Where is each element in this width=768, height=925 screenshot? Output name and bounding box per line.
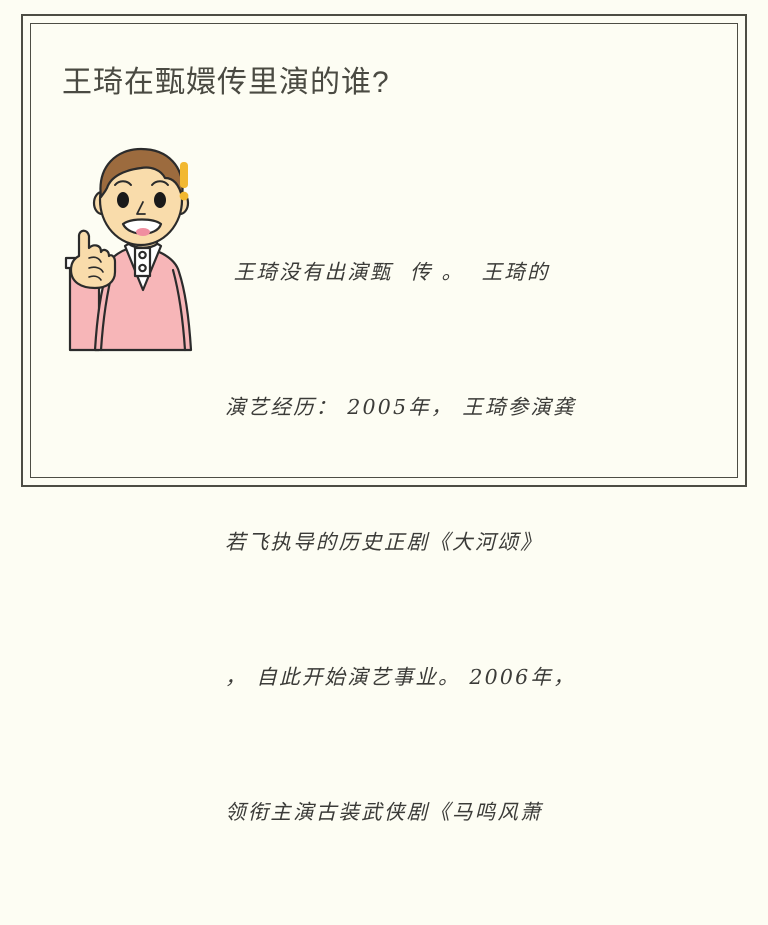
answer-line-2: 演艺经历： 2005年， 王琦参演龚 [225,385,655,430]
exclamation-icon [180,162,189,200]
answer-line-3: 若飞执导的历史正剧《大河颂》 [225,520,655,565]
answer-line-5: 领衔主演古装武侠剧《马鸣风萧 [225,790,655,835]
answer-card-page: 王琦在甄嬛传里演的谁? [0,0,768,510]
cartoon-man-pointing-up-illustration [55,140,220,355]
answer-content-row: 王琦没有出演甄 传 。 王琦的 演艺经历： 2005年， 王琦参演龚 若飞执导的… [55,140,655,410]
page-title: 王琦在甄嬛传里演的谁? [62,63,390,103]
answer-body-text: 王琦没有出演甄 传 。 王琦的 演艺经历： 2005年， 王琦参演龚 若飞执导的… [225,160,655,925]
answer-line-1: 王琦没有出演甄 传 。 王琦的 [225,250,655,295]
answer-line-4: ， 自此开始演艺事业。 2006年， [225,655,655,700]
